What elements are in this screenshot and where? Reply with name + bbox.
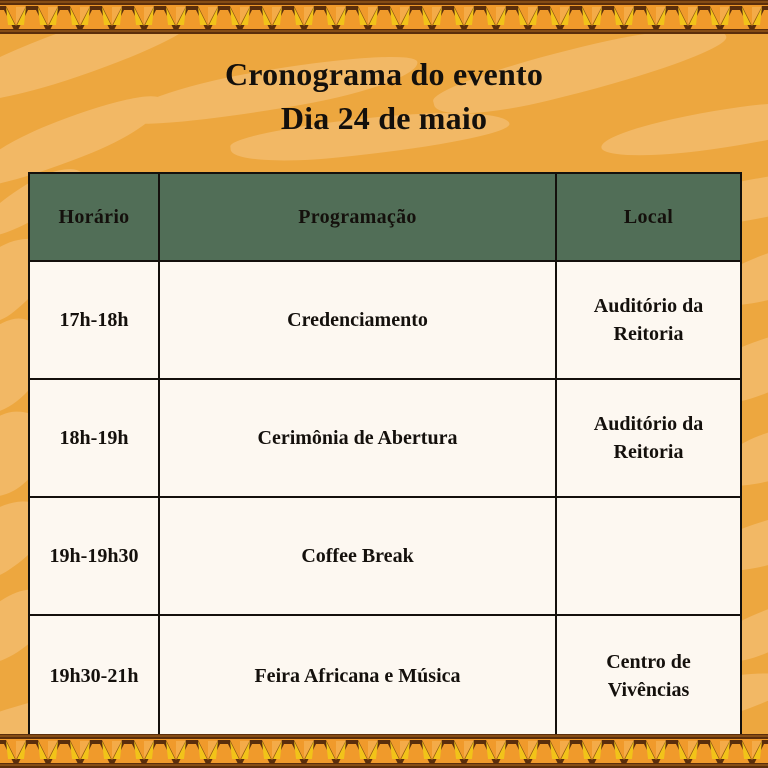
page-title: Cronograma do evento Dia 24 de maio xyxy=(0,52,768,140)
cell-program: Credenciamento xyxy=(159,261,556,379)
bottom-border-pattern xyxy=(0,734,768,768)
cell-time: 19h30-21h xyxy=(29,615,159,737)
cell-place: Auditório da Reitoria xyxy=(556,379,741,497)
top-border-pattern xyxy=(0,0,768,34)
cell-program: Coffee Break xyxy=(159,497,556,615)
cell-place: Centro de Vivências xyxy=(556,615,741,737)
table-header-row: Horário Programação Local xyxy=(29,173,741,261)
table-row: 19h-19h30 Coffee Break xyxy=(29,497,741,615)
column-header-horario: Horário xyxy=(29,173,159,261)
cell-program: Feira Africana e Música xyxy=(159,615,556,737)
cell-time: 18h-19h xyxy=(29,379,159,497)
cell-time: 19h-19h30 xyxy=(29,497,159,615)
title-line-2: Dia 24 de maio xyxy=(0,96,768,140)
event-schedule-poster: Cronograma do evento Dia 24 de maio Horá… xyxy=(0,0,768,768)
table-row: 17h-18h Credenciamento Auditório da Reit… xyxy=(29,261,741,379)
cell-place xyxy=(556,497,741,615)
schedule-table-container: Horário Programação Local 17h-18h Creden… xyxy=(28,172,740,738)
table-header: Horário Programação Local xyxy=(29,173,741,261)
cell-program: Cerimônia de Abertura xyxy=(159,379,556,497)
table-body: 17h-18h Credenciamento Auditório da Reit… xyxy=(29,261,741,737)
cell-time: 17h-18h xyxy=(29,261,159,379)
title-line-1: Cronograma do evento xyxy=(0,52,768,96)
schedule-table: Horário Programação Local 17h-18h Creden… xyxy=(28,172,742,738)
column-header-local: Local xyxy=(556,173,741,261)
table-row: 18h-19h Cerimônia de Abertura Auditório … xyxy=(29,379,741,497)
table-row: 19h30-21h Feira Africana e Música Centro… xyxy=(29,615,741,737)
cell-place: Auditório da Reitoria xyxy=(556,261,741,379)
column-header-programacao: Programação xyxy=(159,173,556,261)
